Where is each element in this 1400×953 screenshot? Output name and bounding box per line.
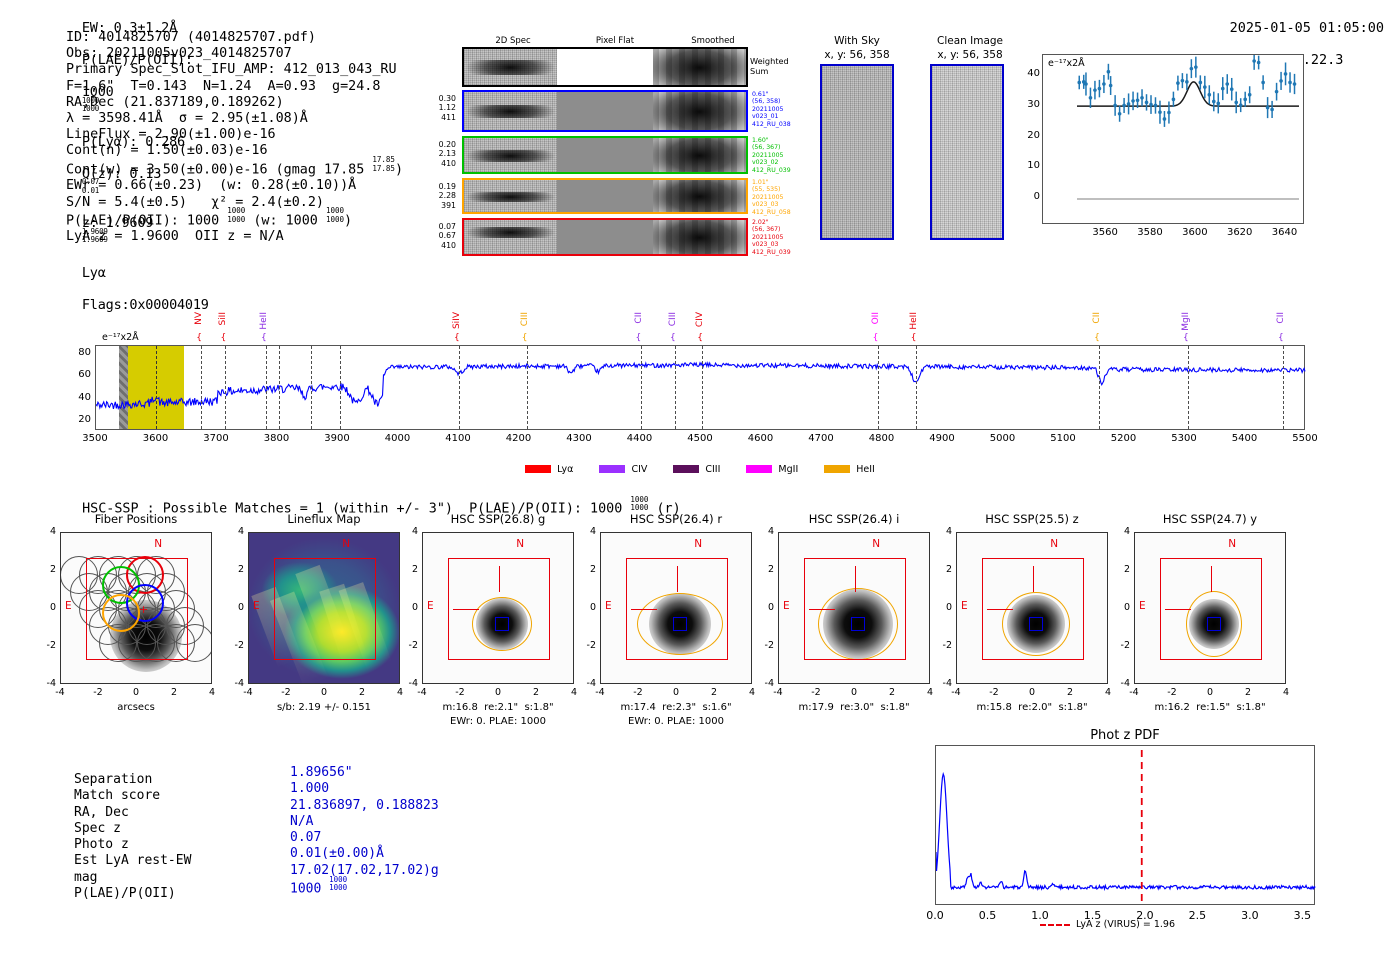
line-bracket-icon: {: [196, 333, 202, 343]
cutout-xtick: 2: [522, 687, 550, 698]
cutout-panel-image-4[interactable]: [778, 532, 930, 684]
legend-swatch-Lyα: [525, 465, 551, 473]
cutout-xtick: -2: [802, 687, 830, 698]
match-label-3: Spec z: [74, 821, 191, 837]
cutout-ytick: 2: [756, 564, 774, 575]
legend-swatch-CIII: [673, 465, 699, 473]
cutout-footer-secondary-2: EWr: 0. PLAE: 1000: [396, 716, 600, 727]
line-fit-ylabel: e⁻¹⁷x2Å: [1048, 58, 1085, 69]
legend-label-MgII: MgII: [778, 464, 798, 475]
info-redshifts: LyA z = 1.9600 OII z = N/A: [66, 229, 403, 245]
east-label: E: [783, 600, 790, 612]
match-value-5: 0.01(±0.00)Å: [290, 846, 439, 862]
spectrum-xtick: 4100: [433, 433, 483, 444]
info-id: ID: 4014825707 (4014825707.pdf): [66, 30, 403, 46]
header-flags: Flags:0x00004019: [82, 297, 209, 313]
full-spectrum-plot: e⁻¹⁷x2Å: [95, 345, 1305, 430]
legend-label-HeII: HeII: [856, 464, 875, 475]
crosshair-vertical: [855, 566, 856, 592]
match-table-labels: SeparationMatch scoreRA, DecSpec zPhoto …: [74, 772, 191, 902]
crosshair-vertical: [1033, 566, 1034, 592]
cutout-xtick: 0: [662, 687, 690, 698]
cutout-title-4: HSC SSP(26.4) i: [762, 512, 946, 526]
line-bracket-icon: {: [454, 333, 460, 343]
linefit-ytick: 20: [1020, 130, 1040, 141]
cutout-footer-primary-0: arcsecs: [34, 702, 238, 713]
cutout-footer-primary-5: m:15.8 re:2.0" s:1.8": [930, 702, 1134, 713]
line-label-CII: CII: [1092, 312, 1102, 324]
cutout-title-1: Lineflux Map: [232, 512, 416, 526]
info-lineflux: LineFlux = 2.90(±1.00)e-16: [66, 127, 403, 143]
spectrum-xtick: 5100: [1038, 433, 1088, 444]
cutout-xtick: -2: [272, 687, 300, 698]
line-fit-plot: e⁻¹⁷x2Å: [1042, 54, 1304, 224]
cutout-xtick: 4: [1272, 687, 1300, 698]
cutout-ytick: -2: [1112, 640, 1130, 651]
match-label-4: Photo z: [74, 837, 191, 853]
strip-title-pixelflat: Pixel Flat: [570, 36, 660, 46]
cutout-xtick: 2: [1234, 687, 1262, 698]
line-bracket-icon: {: [911, 333, 917, 343]
match-label-1: Match score: [74, 788, 191, 804]
linefit-xtick: 3600: [1175, 227, 1215, 238]
cutout-ytick: -4: [400, 678, 418, 689]
dashed-line-icon: [1040, 924, 1070, 926]
line-fit-svg: [1043, 55, 1305, 225]
north-label: N: [694, 538, 702, 550]
photz-xtick: 2.5: [1177, 909, 1217, 922]
cutout-xtick: 2: [700, 687, 728, 698]
spectrum-xtick: 3600: [131, 433, 181, 444]
east-label: E: [605, 600, 612, 612]
spectrum-ytick: 20: [71, 414, 91, 425]
source-info-block: ID: 4014825707 (4014825707.pdf) Obs: 202…: [66, 30, 403, 246]
cutout-footer-secondary-3: EWr: 0. PLAE: 1000: [574, 716, 778, 727]
info-seeing-params: F=1.6" T=0.143 N=1.24 A=0.93 g=24.8: [66, 79, 403, 95]
emission-line-marker-5: [340, 346, 341, 429]
north-label: N: [872, 538, 880, 550]
match-value-2: 21.836897, 0.188823: [290, 798, 439, 814]
emission-line-marker-4: [311, 346, 312, 429]
emission-line-marker-HeII: [916, 346, 917, 429]
cutout-ytick: 4: [1112, 526, 1130, 537]
cutout-panel-image-6[interactable]: [1134, 532, 1286, 684]
weighted-sum-strip: [462, 47, 748, 87]
photz-xtick: 0.0: [915, 909, 955, 922]
line-label-CIII: CIII: [668, 312, 678, 326]
legend-swatch-HeII: [824, 465, 850, 473]
info-wavelength-sigma: λ = 3598.41Å σ = 2.95(±1.08)Å: [66, 111, 403, 127]
cutout-ytick: 2: [226, 564, 244, 575]
with-sky-title: With Sky: [812, 35, 902, 47]
cutout-ytick: -2: [934, 640, 952, 651]
crosshair-horizontal: [809, 609, 835, 610]
cutout-panel-image-3[interactable]: [600, 532, 752, 684]
cutout-panel-image-2[interactable]: [422, 532, 574, 684]
line-label-CII: CII: [634, 312, 644, 324]
cutout-xtick: 0: [484, 687, 512, 698]
legend-item-CIV: CIV: [599, 464, 647, 475]
spectrum-xtick: 5500: [1280, 433, 1330, 444]
fiber-meta-1: 0.61" (56, 358) 20211005 v023_01 412_RU_…: [752, 91, 791, 128]
match-value-6: 17.02(17.02,17.02)g: [290, 863, 439, 879]
fiber-strip-3: [462, 178, 748, 214]
line-bracket-icon: {: [697, 333, 703, 343]
clean-image-title: Clean Image: [920, 35, 1020, 47]
cutout-ytick: 0: [578, 602, 596, 613]
cutout-ytick: -4: [578, 678, 596, 689]
north-label: N: [516, 538, 524, 550]
legend-item-MgII: MgII: [746, 464, 798, 475]
cutout-footer-primary-2: m:16.8 re:2.1" s:1.8": [396, 702, 600, 713]
cutout-ytick: -2: [38, 640, 56, 651]
east-label: E: [65, 600, 72, 612]
cutout-ytick: 2: [400, 564, 418, 575]
fiber-meta-4: 2.02" (56, 367) 20211005 v023_03 412_RU_…: [752, 219, 791, 256]
legend-label-CIII: CIII: [705, 464, 720, 475]
cutout-ytick: 4: [400, 526, 418, 537]
cutout-title-3: HSC SSP(26.4) r: [584, 512, 768, 526]
spectrum-xtick: 4600: [736, 433, 786, 444]
header-lya: Lyα: [82, 265, 106, 281]
strip-title-smoothed: Smoothed: [668, 36, 758, 46]
spectrum-ylabel: e⁻¹⁷x2Å: [102, 332, 139, 343]
info-obs: Obs: 20211005v023_4014825707: [66, 46, 403, 62]
emission-line-marker-SiIV: [459, 346, 460, 429]
cutout-xtick: -2: [84, 687, 112, 698]
spectrum-xtick: 3500: [70, 433, 120, 444]
fiber-values-4: 0.07 0.67 410: [420, 222, 456, 250]
spectrum-xtick: 4900: [917, 433, 967, 444]
spectrum-xtick: 4200: [494, 433, 544, 444]
cutout-footer-primary-3: m:17.4 re:2.3" s:1.6": [574, 702, 778, 713]
cutout-xtick: -2: [980, 687, 1008, 698]
info-plae-poii: P(LAE)/P(OII): 1000 10001000 (w: 1000 10…: [66, 211, 403, 230]
cutout-xtick: 0: [310, 687, 338, 698]
phot-z-legend-label: LyA z (VIRUS) = 1.96: [1076, 919, 1175, 930]
match-label-2: RA, Dec: [74, 805, 191, 821]
linefit-xtick: 3640: [1265, 227, 1305, 238]
phot-z-plot: [935, 745, 1315, 905]
line-label-CIV: CIV: [695, 312, 705, 327]
legend-item-CIII: CIII: [673, 464, 720, 475]
emission-line-marker-HeII: [266, 346, 267, 429]
photz-xtick: 0.5: [967, 909, 1007, 922]
crosshair-vertical: [677, 566, 678, 592]
emission-line-marker-CII: [641, 346, 642, 429]
info-continuum-wide: Cont(w) = 3.50(±0.00)e-16 (gmag 17.85 17…: [66, 160, 403, 179]
legend-item-HeII: HeII: [824, 464, 875, 475]
match-label-5: Est LyA rest-EW: [74, 853, 191, 869]
east-label: E: [427, 600, 434, 612]
photz-xtick: 3.0: [1230, 909, 1270, 922]
info-ewr: EWr = 0.66(±0.23) (w: 0.28(±0.10))Å: [66, 178, 403, 194]
info-ra-dec: RA,Dec (21.837189,0.189262): [66, 95, 403, 111]
spectrum-xtick: 5000: [978, 433, 1028, 444]
cutout-ytick: 2: [38, 564, 56, 575]
fiber-strip-2: [462, 136, 748, 174]
spectrum-xtick: 5300: [1159, 433, 1209, 444]
cutout-ytick: 0: [226, 602, 244, 613]
east-label: E: [253, 600, 260, 612]
line-bracket-icon: {: [670, 333, 676, 343]
legend-label-CIV: CIV: [631, 464, 647, 475]
clean-image-subtitle: x, y: 56, 358: [920, 49, 1020, 61]
cutout-ytick: -2: [400, 640, 418, 651]
linefit-ytick: 10: [1020, 160, 1040, 171]
match-value-0: 1.89656": [290, 765, 439, 781]
match-value-7: 1000 10001000: [290, 879, 439, 898]
cutout-ytick: -4: [1112, 678, 1130, 689]
match-label-6: mag: [74, 870, 191, 886]
emission-line-marker-OII: [878, 346, 879, 429]
cutout-ytick: -4: [226, 678, 244, 689]
line-label-HeII: HeII: [259, 312, 269, 330]
east-label: E: [961, 600, 968, 612]
line-label-NV: NV: [194, 312, 204, 325]
emission-line-marker-NV: [201, 346, 202, 429]
spectrum-ytick: 40: [71, 392, 91, 403]
spectrum-xtick: 4400: [615, 433, 665, 444]
cutout-xtick: 2: [1056, 687, 1084, 698]
emission-line-marker-CII: [1283, 346, 1284, 429]
fiber-strip-4: [462, 218, 748, 256]
emission-line-marker-MgII: [1188, 346, 1189, 429]
spectrum-xtick: 3800: [252, 433, 302, 444]
line-label-OII: OII: [871, 312, 881, 324]
spectrum-xtick: 4000: [373, 433, 423, 444]
cutout-ytick: -2: [578, 640, 596, 651]
east-label: E: [1139, 600, 1146, 612]
cutout-panel-image-5[interactable]: [956, 532, 1108, 684]
match-value-4: 0.07: [290, 830, 439, 846]
match-value-1: 1.000: [290, 781, 439, 797]
field-box: [274, 558, 376, 660]
phot-z-svg: [936, 746, 1316, 906]
cutout-ytick: 0: [1112, 602, 1130, 613]
linefit-ytick: 40: [1020, 68, 1040, 79]
spectrum-xtick: 4800: [857, 433, 907, 444]
north-label: N: [154, 538, 162, 550]
line-label-HeII: HeII: [909, 312, 919, 330]
north-label: N: [342, 538, 350, 550]
legend-swatch-MgII: [746, 465, 772, 473]
cutout-ytick: 2: [1112, 564, 1130, 575]
photz-xtick: 3.5: [1282, 909, 1322, 922]
cutout-ytick: -4: [756, 678, 774, 689]
spectrum-xtick: 3900: [312, 433, 362, 444]
linefit-xtick: 3620: [1220, 227, 1260, 238]
cutout-ytick: 4: [226, 526, 244, 537]
cutout-ytick: 0: [400, 602, 418, 613]
emission-line-marker-CIII: [527, 346, 528, 429]
crosshair-horizontal: [453, 609, 479, 610]
line-label-SiIV: SiIV: [452, 312, 462, 329]
fiber-meta-2: 1.60" (56, 367) 20211005 v023_02 412_RU_…: [752, 137, 791, 174]
linefit-xtick: 3580: [1130, 227, 1170, 238]
spectrum-xtick: 4700: [796, 433, 846, 444]
cutout-ytick: -4: [934, 678, 952, 689]
fiber-meta-3: 1.01" (55, 535) 20211005 v023_03 412_RU_…: [752, 179, 791, 216]
cutout-ytick: 0: [38, 602, 56, 613]
match-table-values: 1.89656"1.00021.836897, 0.188823N/A0.070…: [290, 765, 439, 898]
emission-line-marker-3: [279, 346, 280, 429]
info-primary-spec-slot: Primary Spec_Slot_IFU_AMP: 412_013_043_R…: [66, 62, 403, 78]
fiber-values-2: 0.20 2.13 410: [420, 140, 456, 168]
fiber-strip-1: [462, 90, 748, 132]
crosshair-horizontal: [987, 609, 1013, 610]
spectrum-xtick: 4300: [554, 433, 604, 444]
cutout-title-5: HSC SSP(25.5) z: [940, 512, 1124, 526]
cutout-ytick: 4: [38, 526, 56, 537]
cutout-xtick: 2: [878, 687, 906, 698]
cutout-ytick: 2: [934, 564, 952, 575]
line-bracket-icon: {: [1183, 333, 1189, 343]
phot-z-legend: LyA z (VIRUS) = 1.96: [1040, 919, 1175, 930]
emission-line-marker-SiII: [225, 346, 226, 429]
cutout-xtick: 0: [1018, 687, 1046, 698]
cutout-xtick: -2: [624, 687, 652, 698]
line-bracket-icon: {: [522, 333, 528, 343]
emission-line-marker-CII: [1099, 346, 1100, 429]
line-bracket-icon: {: [636, 333, 642, 343]
crosshair-horizontal: [631, 609, 657, 610]
line-label-MgII: MgII: [1181, 312, 1191, 331]
cutout-panel-fibers-0[interactable]: +: [60, 532, 212, 684]
with-sky-subtitle: x, y: 56, 358: [812, 49, 902, 61]
header-datetime: 2025-01-05 01:05:00: [1230, 20, 1384, 36]
crosshair-vertical: [499, 566, 500, 592]
cutout-xtick: 0: [840, 687, 868, 698]
spectrum-legend: LyαCIVCIIIMgIIHeII: [0, 458, 1400, 477]
cutout-ytick: 4: [934, 526, 952, 537]
cutout-title-6: HSC SSP(24.7) y: [1118, 512, 1302, 526]
cutout-title-2: HSC SSP(26.8) g: [406, 512, 590, 526]
cutout-footer-primary-4: m:17.9 re:3.0" s:1.8": [752, 702, 956, 713]
cutout-xtick: 0: [1196, 687, 1224, 698]
spectrum-xtick: 3700: [191, 433, 241, 444]
line-bracket-icon: {: [873, 333, 879, 343]
north-label: N: [1228, 538, 1236, 550]
cutout-ytick: -2: [756, 640, 774, 651]
spectrum-ytick: 80: [71, 347, 91, 358]
spectrum-xtick: 5200: [1099, 433, 1149, 444]
legend-item-Lyα: Lyα: [525, 464, 573, 475]
phot-z-title: Phot z PDF: [935, 728, 1315, 743]
detected-line-marker: [156, 346, 157, 429]
emission-line-marker-CIII: [675, 346, 676, 429]
cutout-xtick: 2: [348, 687, 376, 698]
match-label-0: Separation: [74, 772, 191, 788]
fiber-values-3: 0.19 2.28 391: [420, 182, 456, 210]
cutout-panel-lineflux-1[interactable]: [248, 532, 400, 684]
line-bracket-icon: {: [1094, 333, 1100, 343]
spectrum-xtick: 4500: [675, 433, 725, 444]
clean-image: [930, 64, 1004, 240]
match-value-3: N/A: [290, 814, 439, 830]
weighted-sum-label: Weighted Sum: [750, 56, 789, 76]
cutout-ytick: 4: [756, 526, 774, 537]
line-label-CII: CII: [1276, 312, 1286, 324]
cutout-title-0: Fiber Positions: [44, 512, 228, 526]
cutout-xtick: 0: [122, 687, 150, 698]
cutout-ytick: 4: [578, 526, 596, 537]
cutout-ytick: 2: [578, 564, 596, 575]
line-bracket-icon: {: [261, 333, 267, 343]
spectrum-ytick: 60: [71, 369, 91, 380]
cutout-xtick: 2: [160, 687, 188, 698]
cutout-footer-primary-6: m:16.2 re:1.5" s:1.8": [1108, 702, 1312, 713]
legend-swatch-CIV: [599, 465, 625, 473]
cutout-xtick: 4: [198, 687, 226, 698]
cutout-xtick: -2: [446, 687, 474, 698]
crosshair-vertical: [1211, 566, 1212, 592]
line-bracket-icon: {: [220, 333, 226, 343]
match-label-7: P(LAE)/P(OII): [74, 886, 191, 902]
cutout-ytick: 0: [934, 602, 952, 613]
linefit-ytick: 30: [1020, 99, 1040, 110]
linefit-xtick: 3560: [1085, 227, 1125, 238]
legend-label-Lyα: Lyα: [557, 464, 573, 475]
line-label-SiII: SiII: [218, 312, 228, 326]
emission-line-marker-CIV: [702, 346, 703, 429]
linefit-ytick: 0: [1020, 191, 1040, 202]
cutout-ytick: -4: [38, 678, 56, 689]
cutout-ytick: -2: [226, 640, 244, 651]
line-bracket-icon: {: [1278, 333, 1284, 343]
with-sky-image: [820, 64, 894, 240]
cutout-xtick: -2: [1158, 687, 1186, 698]
north-label: N: [1050, 538, 1058, 550]
fiber-values-1: 0.30 1.12 411: [420, 94, 456, 122]
line-label-CIII: CIII: [520, 312, 530, 326]
cutout-ytick: 0: [756, 602, 774, 613]
crosshair-horizontal: [1165, 609, 1191, 610]
spectrum-xtick: 5400: [1220, 433, 1270, 444]
field-box: [86, 558, 188, 660]
info-continuum-narrow: Cont(n) = 1.50(±0.03)e-16: [66, 143, 403, 159]
strip-title-2dspec: 2D Spec: [468, 36, 558, 46]
